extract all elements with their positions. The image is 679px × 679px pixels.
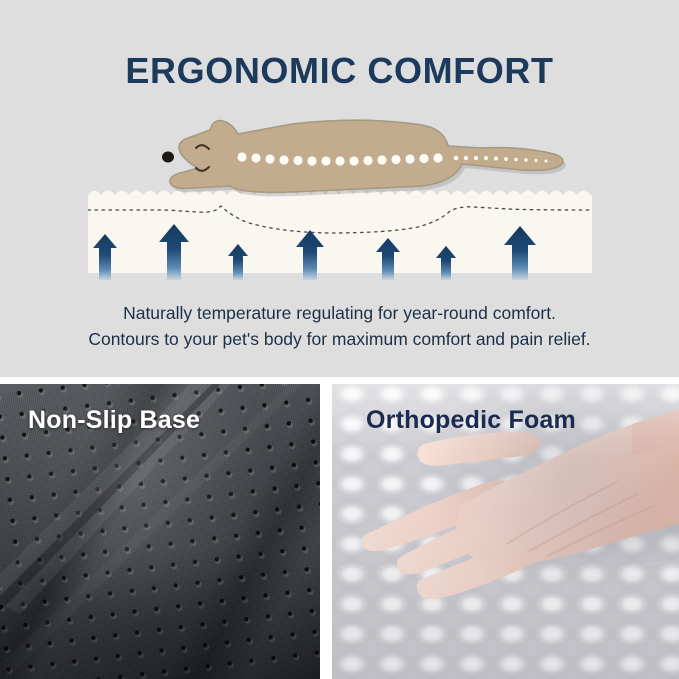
- support-arrow-7: [504, 226, 536, 280]
- body-copy-line-1: Naturally temperature regulating for yea…: [0, 300, 679, 326]
- support-arrow-5: [376, 238, 400, 280]
- sleeping-dog-illustration: [122, 112, 568, 222]
- body-copy-line-2: Contours to your pet's body for maximum …: [0, 326, 679, 352]
- support-arrow-1: [93, 234, 117, 280]
- panel-divider-horizontal: [0, 377, 679, 384]
- ergonomic-comfort-panel: ERGONOMIC COMFORT: [0, 0, 679, 377]
- dog-nose: [162, 152, 174, 163]
- body-copy: Naturally temperature regulating for yea…: [0, 300, 679, 352]
- panel-non-slip-base: Non-Slip Base: [0, 384, 320, 679]
- support-arrow-4: [296, 230, 324, 280]
- support-arrow-3: [228, 244, 248, 280]
- panel-orthopedic-foam: Orthopedic Foam: [332, 384, 679, 679]
- support-arrow-2: [159, 224, 189, 280]
- support-arrow-6: [436, 246, 456, 280]
- page-title: ERGONOMIC COMFORT: [0, 50, 679, 92]
- panel-caption-non-slip-base: Non-Slip Base: [28, 406, 200, 435]
- panel-caption-orthopedic-foam: Orthopedic Foam: [366, 406, 576, 435]
- feature-panel-row: Non-Slip Base: [0, 384, 679, 679]
- support-arrows: [88, 222, 592, 282]
- product-feature-graphic: ERGONOMIC COMFORT: [0, 0, 679, 679]
